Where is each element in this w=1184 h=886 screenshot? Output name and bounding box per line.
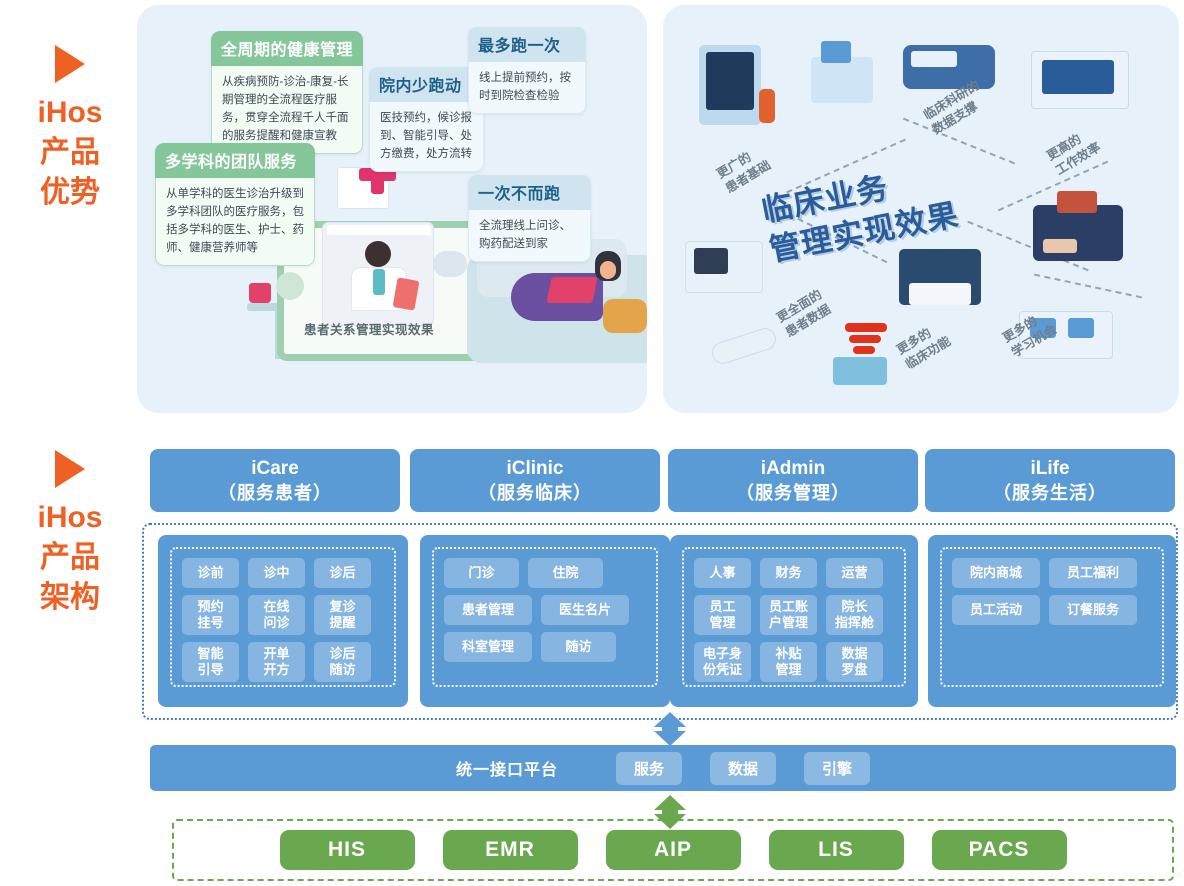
module-body-iadmin: 人事财务运营员工 管理员工账 户管理院长 指挥舱电子身 份凭证补贴 管理数据 罗… — [670, 535, 918, 707]
module-name: iCare — [251, 457, 299, 481]
module-chip[interactable]: 院长 指挥舱 — [826, 595, 883, 635]
illustration-badge-icon — [276, 272, 304, 300]
advantage-card-body: 线上提前预约，按时到院检查检验 — [468, 62, 586, 114]
module-chip[interactable]: 科室管理 — [444, 632, 532, 662]
module-chip[interactable]: 数据 罗盘 — [826, 642, 883, 682]
module-chip[interactable]: 诊前 — [182, 558, 239, 588]
dashed-connector — [1034, 274, 1142, 299]
module-chip[interactable]: 诊中 — [248, 558, 305, 588]
illustration-card-reader — [833, 357, 887, 385]
module-header-iadmin[interactable]: iAdmin （服务管理） — [668, 449, 918, 512]
rail-label-line-3: 优势 — [0, 173, 140, 213]
effect-label-patient-data: 更全面的 患者数据 — [774, 287, 834, 342]
rail-label-line-3: 架构 — [0, 578, 140, 618]
rail-product-advantage: iHos 产品 优势 — [0, 45, 140, 213]
module-chip[interactable]: 订餐服务 — [1049, 595, 1137, 625]
illustration-caption: 患者关系管理实现效果 — [304, 319, 434, 338]
module-subtitle: （服务管理） — [736, 481, 850, 505]
module-header-iclinic[interactable]: iClinic （服务临床） — [410, 449, 660, 512]
advantage-card-body: 从单学科的医生诊治升级到多学科团队的医疗服务，包括多学科的医生、护士、药师、健康… — [155, 178, 315, 266]
advantage-card-title: 多学科的团队服务 — [155, 143, 315, 178]
module-chip[interactable]: 随访 — [541, 632, 616, 662]
module-name: iLife — [1030, 457, 1069, 481]
advantage-card-mdt: 多学科的团队服务 从单学科的医生诊治升级到多学科团队的医疗服务，包括多学科的医生… — [155, 143, 315, 266]
module-chip[interactable]: 员工 管理 — [694, 595, 751, 635]
advantage-card-title: 一次不而跑 — [468, 175, 591, 210]
illustration-exam-bed — [903, 45, 995, 89]
effect-label-clinical-functions: 更多的 临床功能 — [894, 319, 954, 374]
module-name: iAdmin — [761, 457, 825, 481]
module-chip[interactable]: 医生名片 — [541, 595, 629, 625]
illustration-standing-patient — [759, 89, 775, 123]
advantage-card-no-trip: 一次不而跑 全流理线上问诊、购药配送到家 — [468, 175, 591, 262]
base-system-his[interactable]: HIS — [280, 830, 415, 870]
illustration-consulting-doctor — [899, 249, 981, 305]
illustration-doctor-desk — [811, 57, 873, 103]
module-subtitle: （服务患者） — [218, 481, 332, 505]
illustration-stethoscope — [373, 269, 385, 295]
advantage-card-lifecycle: 全周期的健康管理 从疾病预防-诊治-康复-长期管理的全流程医疗服务，贯穿全流程千… — [211, 31, 363, 154]
platform-title: 统一接口平台 — [456, 756, 558, 780]
advantage-card-title: 最多跑一次 — [468, 27, 586, 62]
module-chip[interactable]: 开单 开方 — [248, 642, 305, 682]
base-system-aip[interactable]: AIP — [606, 830, 741, 870]
wifi-signal-icon — [845, 323, 889, 359]
rail-product-architecture: iHos 产品 架构 — [0, 450, 140, 618]
advantage-card-in-hospital: 院内少跑动 医技预约，候诊报到、智能引导、处方缴费，处方流转 — [369, 67, 484, 172]
rail-label-line-1: iHos — [0, 93, 140, 133]
rail-label-line-2: 产品 — [0, 538, 140, 578]
module-chip[interactable]: 在线 问诊 — [248, 595, 305, 635]
module-subtitle: （服务生活） — [993, 481, 1107, 505]
advantage-card-title: 全周期的健康管理 — [211, 31, 363, 66]
module-chip-grid: 诊前诊中诊后预约 挂号在线 问诊复诊 提醒智能 引导开单 开方诊后 随访 — [170, 547, 396, 687]
base-system-lis[interactable]: LIS — [769, 830, 904, 870]
rail-label-line-2: 产品 — [0, 133, 140, 173]
illustration-radiology-station — [685, 241, 763, 293]
advantage-panel: 患者关系管理实现效果 ?? 全周期的健康管理 从疾病预防-诊治-康复-长期管理的… — [137, 5, 647, 413]
play-triangle-icon — [55, 45, 85, 83]
module-subtitle: （服务临床） — [478, 481, 592, 505]
module-chip[interactable]: 诊后 — [314, 558, 371, 588]
illustration-speech-bubble — [433, 251, 467, 277]
double-arrow-blue-icon — [654, 712, 686, 746]
illustration-video-call — [322, 222, 434, 326]
module-chip-grid: 院内商城员工福利员工活动订餐服务 — [940, 547, 1164, 687]
base-systems-frame: HIS EMR AIP LIS PACS — [172, 819, 1174, 881]
illustration-patient-laptop — [546, 277, 598, 303]
module-chip[interactable]: 住院 — [528, 558, 603, 588]
illustration-thermometer — [709, 325, 779, 366]
platform-pill-data[interactable]: 数据 — [710, 752, 776, 785]
play-triangle-icon — [55, 450, 85, 488]
module-header-icare[interactable]: iCare （服务患者） — [150, 449, 400, 512]
module-chip[interactable]: 员工活动 — [952, 595, 1040, 625]
module-header-ilife[interactable]: iLife （服务生活） — [925, 449, 1175, 512]
module-chip[interactable]: 补贴 管理 — [760, 642, 817, 682]
effect-label-patient-base: 更广的 患者基础 — [714, 143, 774, 198]
module-chip[interactable]: 复诊 提醒 — [314, 595, 371, 635]
base-system-emr[interactable]: EMR — [443, 830, 578, 870]
module-chip[interactable]: 员工福利 — [1049, 558, 1137, 588]
illustration-laptop — [1031, 51, 1129, 109]
module-chip-grid: 门诊住院患者管理医生名片科室管理随访 — [432, 547, 658, 687]
module-chip[interactable]: 诊后 随访 — [314, 642, 371, 682]
illustration-doctor-head — [365, 241, 391, 267]
module-chip[interactable]: 院内商城 — [952, 558, 1040, 588]
illustration-cup — [249, 283, 271, 303]
module-chip[interactable]: 智能 引导 — [182, 642, 239, 682]
advantage-card-body: 全流理线上问诊、购药配送到家 — [468, 210, 591, 262]
module-body-iclinic: 门诊住院患者管理医生名片科室管理随访 — [420, 535, 670, 707]
module-chip[interactable]: 患者管理 — [444, 595, 532, 625]
module-chip[interactable]: 员工账 户管理 — [760, 595, 817, 635]
module-name: iClinic — [506, 457, 563, 481]
unified-interface-platform-bar: 统一接口平台 服务 数据 引擎 — [150, 745, 1176, 791]
module-body-icare: 诊前诊中诊后预约 挂号在线 问诊复诊 提醒智能 引导开单 开方诊后 随访 — [158, 535, 408, 707]
illustration-sofa — [467, 255, 647, 363]
illustration-patient-display — [699, 45, 761, 125]
advantage-card-title: 院内少跑动 — [369, 67, 484, 102]
rail-label-line-1: iHos — [0, 498, 140, 538]
advantage-card-body: 从疾病预防-诊治-康复-长期管理的全流程医疗服务，贯穿全流程千人千面的服务提醒和… — [211, 66, 363, 154]
illustration-clipboard — [393, 277, 420, 310]
module-chip[interactable]: 门诊 — [444, 558, 519, 588]
illustration-patient-legs — [603, 299, 647, 333]
module-chip[interactable]: 运营 — [826, 558, 883, 588]
module-chip[interactable]: 财务 — [760, 558, 817, 588]
platform-pill-service[interactable]: 服务 — [616, 752, 682, 785]
base-system-pacs[interactable]: PACS — [932, 830, 1067, 870]
module-body-ilife: 院内商城员工福利员工活动订餐服务 — [928, 535, 1176, 707]
platform-pill-engine[interactable]: 引擎 — [804, 752, 870, 785]
advantage-card-body: 医技预约，候诊报到、智能引导、处方缴费，处方流转 — [369, 102, 484, 172]
module-chip[interactable]: 预约 挂号 — [182, 595, 239, 635]
module-chip-grid: 人事财务运营员工 管理员工账 户管理院长 指挥舱电子身 份凭证补贴 管理数据 罗… — [682, 547, 906, 687]
module-chip[interactable]: 电子身 份凭证 — [694, 642, 751, 682]
infographic-root: iHos 产品 优势 iHos 产品 架构 患者关系管理实现效果 — [0, 0, 1184, 886]
illustration-browser-bar — [327, 225, 431, 235]
module-chip[interactable]: 人事 — [694, 558, 751, 588]
advantage-card-one-trip: 最多跑一次 线上提前预约，按时到院检查检验 — [468, 27, 586, 114]
illustration-patient-face — [600, 261, 616, 279]
clinical-effect-panel: 更广的 患者基础 临床科研的 数据支撑 更高的 工作效率 更全面的 患者数据 更… — [663, 5, 1179, 413]
